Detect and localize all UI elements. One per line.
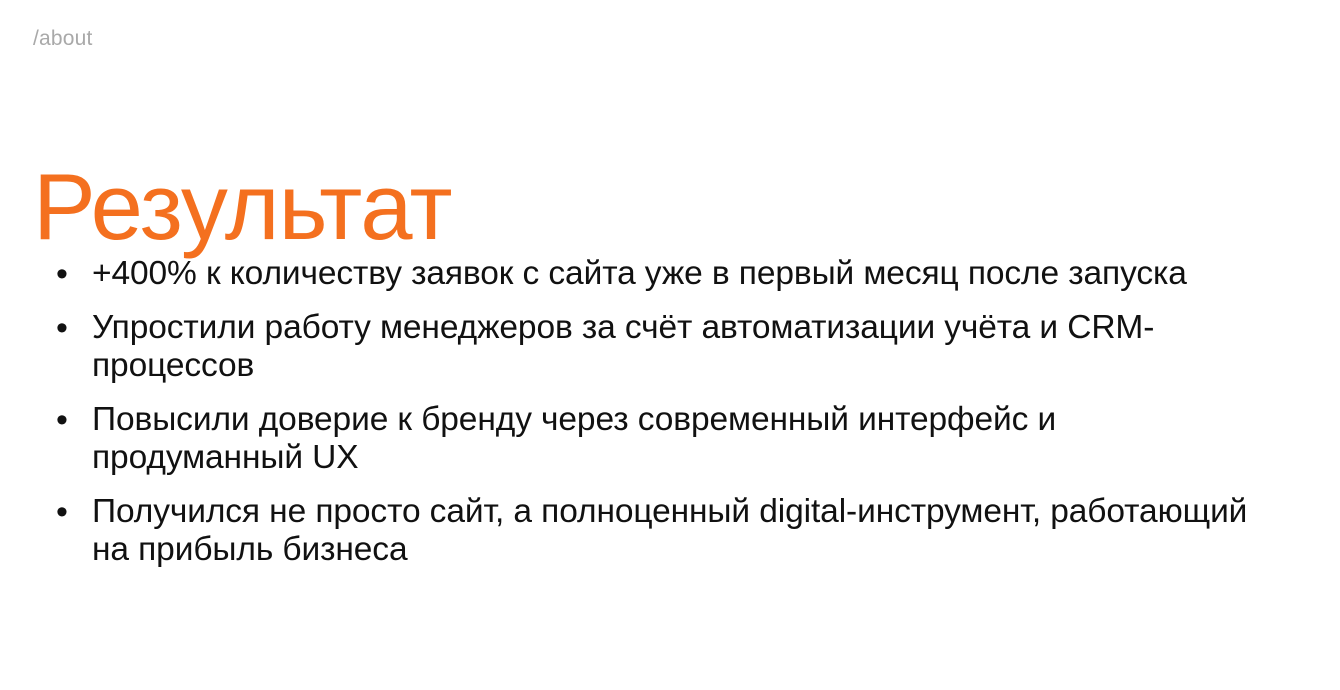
bullet-dot-icon: • [46, 255, 92, 293]
bullet-dot-icon: • [46, 401, 92, 439]
list-item: • Упростили работу менеджеров за счёт ав… [46, 309, 1296, 385]
list-item-text: Получился не просто сайт, а полноценный … [92, 493, 1272, 569]
list-item-text: Повысили доверие к бренду через современ… [92, 401, 1272, 477]
list-item: • Повысили доверие к бренду через соврем… [46, 401, 1296, 477]
breadcrumb-about: /about [33, 26, 93, 51]
list-item-text: Упростили работу менеджеров за счёт авто… [92, 309, 1272, 385]
slide-root: /about Результат • +400% к количеству за… [0, 0, 1340, 690]
list-item-text: +400% к количеству заявок с сайта уже в … [92, 255, 1272, 293]
bullet-dot-icon: • [46, 309, 92, 347]
list-item: • Получился не просто сайт, а полноценны… [46, 493, 1296, 569]
list-item: • +400% к количеству заявок с сайта уже … [46, 255, 1296, 293]
page-title: Результат [33, 160, 452, 254]
bullet-dot-icon: • [46, 493, 92, 531]
results-bullet-list: • +400% к количеству заявок с сайта уже … [46, 255, 1296, 569]
